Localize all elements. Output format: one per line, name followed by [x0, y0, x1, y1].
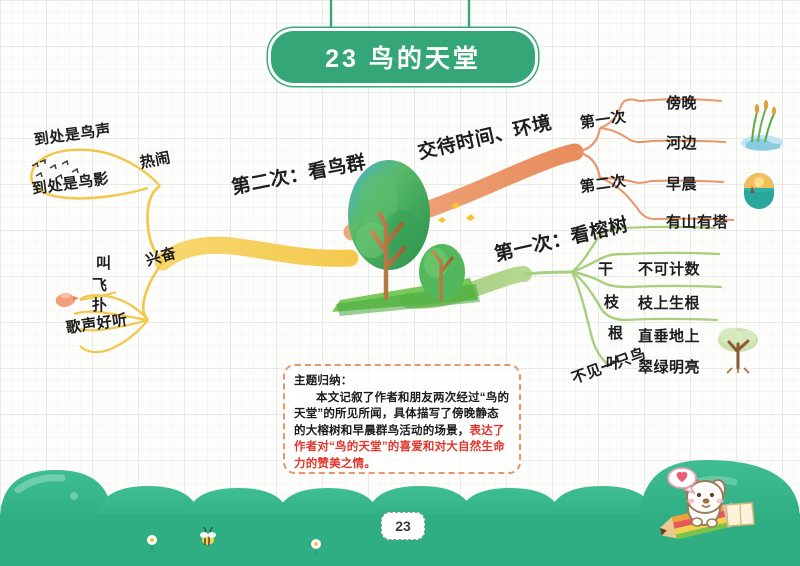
summary-heading: 主题归纳：: [294, 373, 510, 390]
green-child-1-label: 干: [598, 258, 614, 279]
reed-water-icon: [741, 100, 783, 151]
page-number: 23: [381, 512, 425, 540]
yellow-leaf-2-1: 叫: [96, 252, 112, 273]
green-detail-3: 直垂地上: [638, 325, 700, 346]
summary-body: 本文记叙了作者和朋友两次经过“鸟的天堂”的所见所闻，具体描写了傍晚静态的大榕树和…: [294, 390, 510, 473]
orange-leaf-2-1: 早晨: [666, 173, 697, 194]
bird-icon: [56, 293, 79, 307]
yellow-leaf-2-2: 飞: [92, 274, 108, 295]
green-detail-1: 不可计数: [638, 258, 700, 279]
orange-leaf-1-1: 傍晚: [666, 92, 697, 113]
summary-box: 主题归纳： 本文记叙了作者和朋友两次经过“鸟的天堂”的所见所闻，具体描写了傍晚静…: [283, 364, 521, 474]
green-detail-4: 翠绿明亮: [638, 356, 700, 377]
page-title: 23 鸟的天堂: [268, 28, 538, 86]
orange-leaf-2-2: 有山有塔: [666, 211, 728, 232]
center-illustration: [332, 160, 480, 316]
green-detail-2: 枝上生根: [638, 292, 700, 313]
green-child-2-label: 枝: [604, 291, 620, 312]
sunrise-icon: [744, 173, 774, 209]
orange-leaf-1-2: 河边: [666, 132, 697, 153]
green-child-3-label: 根: [608, 322, 624, 343]
banyan-tree-icon: [718, 328, 758, 373]
mindmap-page: 23 鸟的天堂 交待时间、环境 第一次 第二次 傍晚 河边 早晨 有山有塔 第一…: [0, 0, 800, 566]
